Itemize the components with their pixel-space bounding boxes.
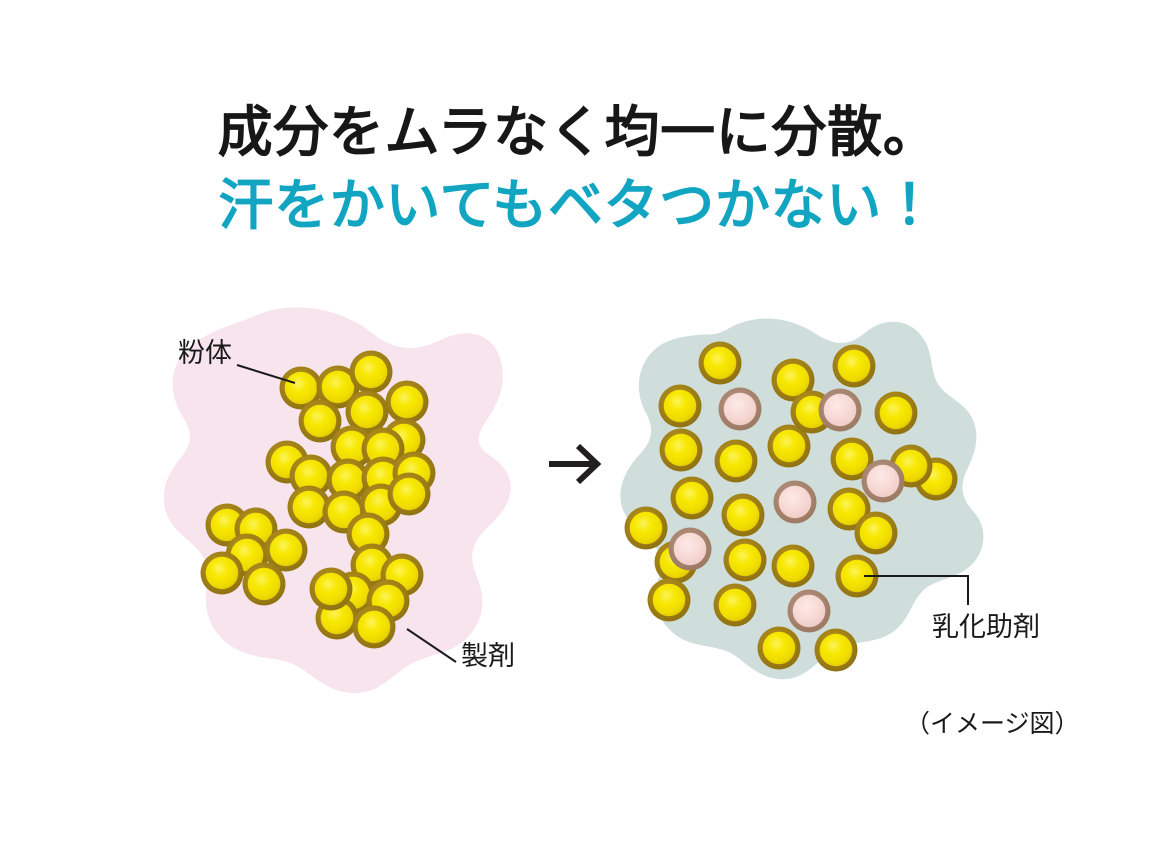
label-formulation: 製剤 — [461, 643, 515, 670]
label-powder: 粉体 — [178, 340, 232, 367]
label-emulsifying-aid: 乳化助剤 — [932, 614, 1040, 641]
transition-arrow — [549, 446, 597, 482]
label-image-note: （イメージ図） — [905, 712, 1080, 737]
slide-canvas: 成分をムラなく均一に分散。 汗をかいてもベタつかない！ — [0, 0, 1156, 868]
